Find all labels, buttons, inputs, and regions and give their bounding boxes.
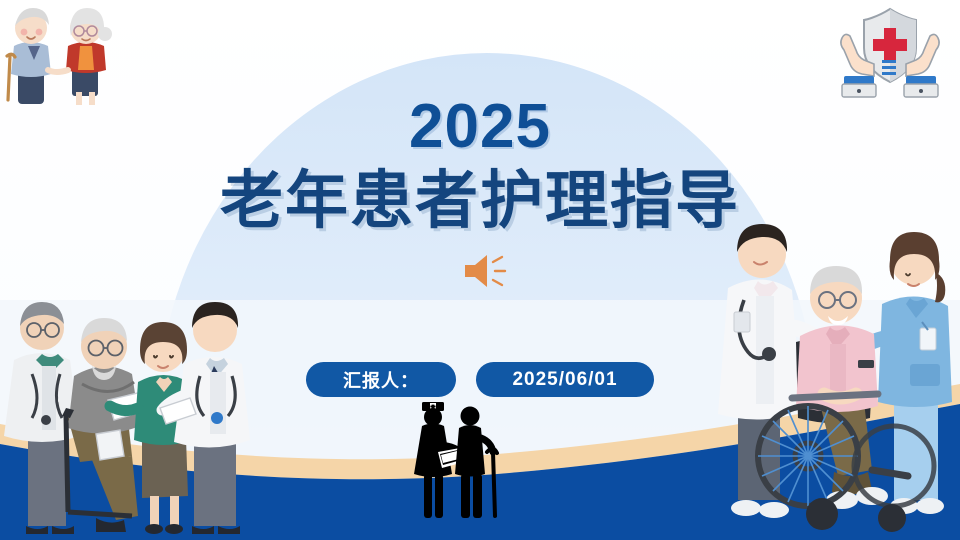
- hands-holding-medical-shield-icon: [832, 4, 948, 100]
- cover-slide: 2025 老年患者护理指导 汇报人： 2025/06/01: [0, 0, 960, 540]
- medical-team-with-elderly-patient-illustration: [0, 288, 252, 540]
- footer-pill-row: 汇报人： 2025/06/01: [0, 362, 960, 397]
- elderly-couple-illustration: [2, 2, 126, 106]
- nurse-and-elder-silhouette: [408, 398, 500, 524]
- speaker-icon: [461, 249, 517, 293]
- reporter-button[interactable]: 汇报人：: [306, 362, 456, 397]
- date-button[interactable]: 2025/06/01: [476, 362, 654, 397]
